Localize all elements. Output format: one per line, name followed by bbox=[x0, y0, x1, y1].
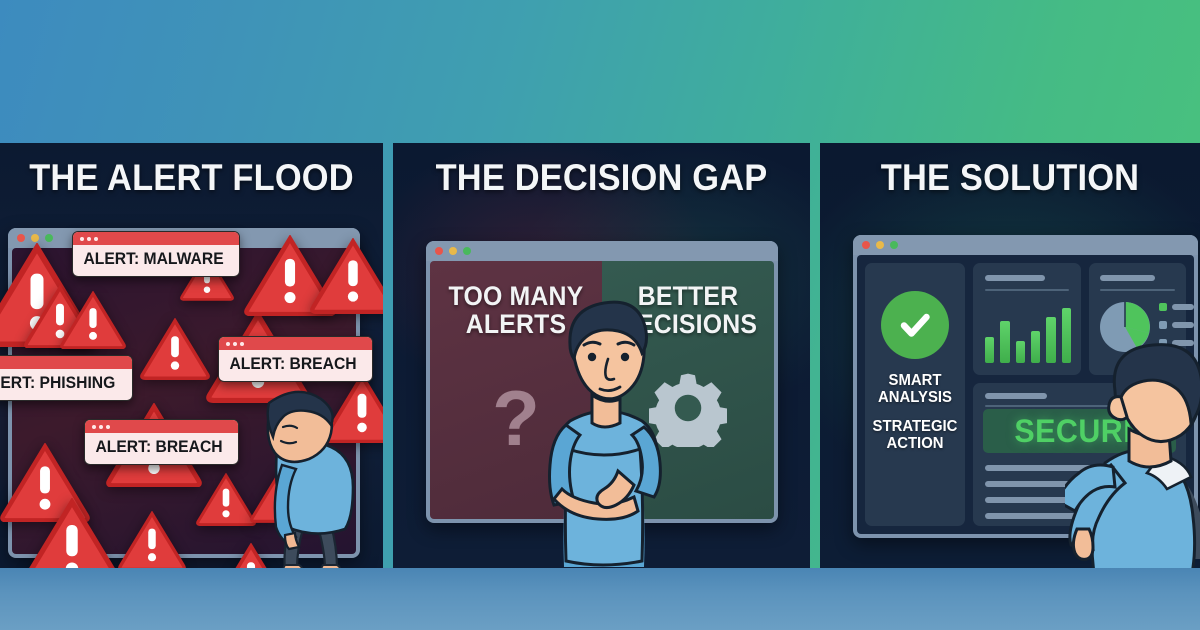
alert-card-label: ALERT: PHISHING bbox=[0, 369, 124, 400]
check-circle-icon bbox=[881, 291, 949, 359]
pie-legend-bar bbox=[1172, 322, 1194, 328]
smart-analysis-label: SMARTANALYSIS bbox=[869, 373, 962, 407]
minimize-dot-icon[interactable] bbox=[449, 247, 457, 255]
window-titlebar bbox=[853, 235, 1198, 255]
alert-card-titlebar bbox=[219, 337, 372, 350]
alert-dot-icon bbox=[99, 425, 103, 429]
alert-dot-icon bbox=[87, 237, 91, 241]
close-dot-icon[interactable] bbox=[17, 234, 25, 242]
alert-dot-icon bbox=[233, 342, 237, 346]
pie-legend-item bbox=[1159, 321, 1194, 329]
panel-solution: THE SOLUTION SMARTANALYSIS bbox=[820, 143, 1200, 568]
maximize-dot-icon[interactable] bbox=[45, 234, 53, 242]
pie-legend-swatch bbox=[1159, 303, 1167, 311]
close-dot-icon[interactable] bbox=[435, 247, 443, 255]
panel-decision-gap: THE DECISION GAP TOO MANY ALERTS ? BETTE bbox=[393, 143, 810, 568]
pie-chart-divider bbox=[1100, 289, 1175, 291]
warning-triangle-icon bbox=[20, 498, 124, 568]
panel-row: THE ALERT FLOOD ALERT: MALWAREALERT: BRE… bbox=[0, 143, 1200, 568]
strategic-action-label: STRATEGICACTION bbox=[869, 419, 962, 453]
alert-dot-icon bbox=[80, 237, 84, 241]
bar-chart-title-skeleton bbox=[985, 275, 1045, 281]
minimize-dot-icon[interactable] bbox=[31, 234, 39, 242]
pie-chart-title-skeleton bbox=[1100, 275, 1155, 281]
alert-card-label: ALERT: MALWARE bbox=[73, 245, 231, 276]
window-titlebar bbox=[426, 241, 778, 261]
bar-chart-bar bbox=[985, 337, 994, 363]
bar-chart-bar bbox=[1016, 341, 1025, 363]
alert-card-label: ALERT: BREACH bbox=[85, 433, 230, 464]
floor-surface bbox=[0, 568, 1200, 630]
alert-card[interactable]: ALERT: PHISHING bbox=[0, 355, 133, 401]
alert-dot-icon bbox=[240, 342, 244, 346]
panel-1-title: THE ALERT FLOOD bbox=[13, 157, 369, 199]
bar-chart-bar bbox=[1000, 321, 1009, 363]
warning-triangle-icon bbox=[60, 291, 126, 349]
bar-chart-bar bbox=[1031, 331, 1040, 363]
secure-title-skeleton bbox=[985, 393, 1047, 399]
alert-dot-icon bbox=[106, 425, 110, 429]
panel-alert-flood: THE ALERT FLOOD ALERT: MALWAREALERT: BRE… bbox=[0, 143, 383, 568]
bar-chart-bar bbox=[1046, 317, 1055, 363]
pie-legend-swatch bbox=[1159, 321, 1167, 329]
alert-dot-icon bbox=[92, 425, 96, 429]
alert-card-titlebar bbox=[0, 356, 132, 369]
panel-3-title: THE SOLUTION bbox=[833, 157, 1186, 199]
pointing-person-figure bbox=[1065, 343, 1200, 568]
warning-triangle-icon bbox=[140, 318, 210, 380]
smart-analysis-card[interactable]: SMARTANALYSIS STRATEGICACTION bbox=[865, 263, 965, 526]
maximize-dot-icon[interactable] bbox=[890, 241, 898, 249]
alert-card[interactable]: ALERT: BREACH bbox=[218, 336, 373, 382]
minimize-dot-icon[interactable] bbox=[876, 241, 884, 249]
bar-chart-divider bbox=[985, 289, 1069, 291]
close-dot-icon[interactable] bbox=[862, 241, 870, 249]
alert-dot-icon bbox=[94, 237, 98, 241]
alert-card-titlebar bbox=[85, 420, 238, 433]
alert-card-titlebar bbox=[73, 232, 239, 245]
alert-card-label: ALERT: BREACH bbox=[219, 350, 364, 381]
warning-triangle-icon bbox=[118, 511, 186, 568]
warning-triangle-icon bbox=[310, 238, 383, 314]
panel-2-title: THE DECISION GAP bbox=[408, 157, 796, 199]
maximize-dot-icon[interactable] bbox=[463, 247, 471, 255]
alert-card[interactable]: ALERT: MALWARE bbox=[72, 231, 240, 277]
exhausted-person-figure bbox=[225, 383, 383, 568]
alert-dot-icon bbox=[226, 342, 230, 346]
bar-chart-bars bbox=[985, 305, 1071, 363]
pie-legend-item bbox=[1159, 303, 1194, 311]
alert-card[interactable]: ALERT: BREACH bbox=[84, 419, 239, 465]
pie-legend-bar bbox=[1172, 304, 1194, 310]
thinking-person-figure bbox=[530, 299, 680, 568]
